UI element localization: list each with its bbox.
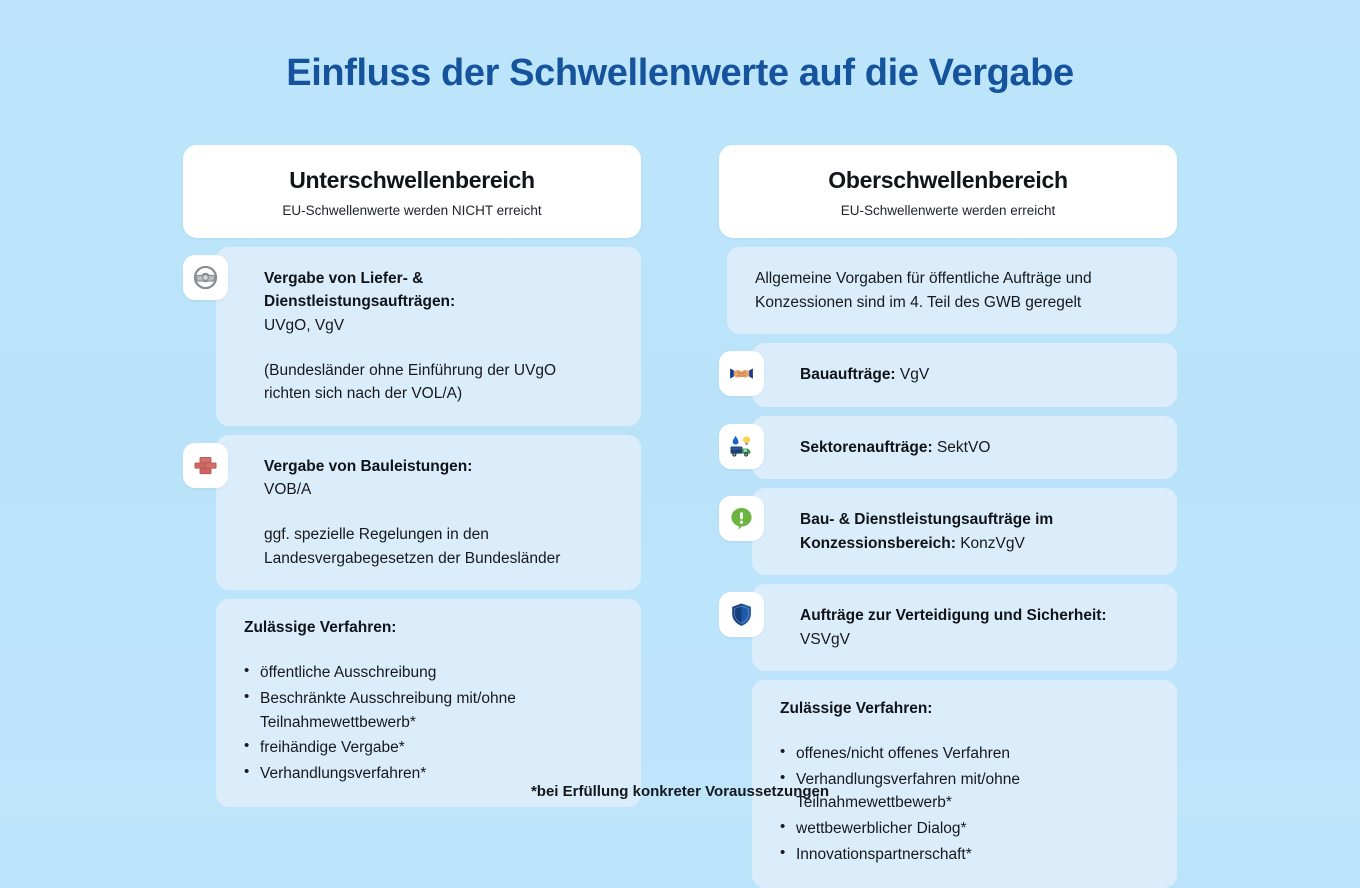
content-block-lieferauftraege: Vergabe von Liefer- & Dienstleistungsauf…: [183, 247, 641, 426]
row-text-line-2: Konzessionsbereich: KonzVgV: [800, 532, 1155, 556]
list-item: Beschränkte Ausschreibung mit/ohne Teiln…: [244, 687, 617, 734]
columns-container: Unterschwellenbereich EU-Schwellenwerte …: [0, 145, 1360, 888]
list-item: freihändige Vergabe*: [244, 736, 617, 760]
verfahren-heading: Zulässige Verfahren:: [244, 619, 617, 637]
bricks-icon: [183, 443, 228, 488]
verfahren-list: offenes/nicht offenes Verfahren Verhandl…: [780, 742, 1153, 866]
content-block-bauleistungen: Vergabe von Bauleistungen: VOB/A ggf. sp…: [183, 435, 641, 591]
row-text-line-1: Bau- & Dienstleistungsaufträge im: [800, 508, 1155, 532]
note-line-1: ggf. spezielle Regelungen in den: [264, 523, 619, 547]
header-title: Oberschwellenbereich: [737, 167, 1159, 194]
utility-truck-icon: [719, 424, 764, 469]
intro-line-1: Allgemeine Vorgaben für öffentliche Auft…: [755, 267, 1153, 291]
shield-icon: [719, 592, 764, 637]
footnote: *bei Erfüllung konkreter Voraussetzungen: [0, 783, 1360, 800]
list-item: offenes/nicht offenes Verfahren: [780, 742, 1153, 766]
card-body: Bau- & Dienstleistungsaufträge im Konzes…: [752, 488, 1177, 575]
header-subtitle: EU-Schwellenwerte werden NICHT erreicht: [201, 203, 623, 218]
row-label: Bauaufträge:: [800, 366, 896, 383]
spacer: [264, 501, 619, 523]
list-item: öffentliche Ausschreibung: [244, 661, 617, 685]
value-line: UVgO, VgV: [264, 314, 619, 337]
handshake-icon: [719, 351, 764, 396]
lead-line-2: Dienstleistungsaufträgen:: [264, 290, 619, 313]
column-oberschwellenbereich: Oberschwellenbereich EU-Schwellenwerte w…: [719, 145, 1177, 888]
header-card-unterschwellenbereich: Unterschwellenbereich EU-Schwellenwerte …: [183, 145, 641, 238]
steering-wheel-icon: [183, 255, 228, 300]
note-line-2: Landesvergabegesetzen der Bundesländer: [264, 547, 619, 571]
spacer: [264, 337, 619, 359]
note-line-2: richten sich nach der VOL/A): [264, 382, 619, 406]
verfahren-heading: Zulässige Verfahren:: [780, 700, 1153, 718]
card-body: Allgemeine Vorgaben für öffentliche Auft…: [727, 247, 1177, 334]
list-item: Innovationspartnerschaft*: [780, 843, 1153, 867]
lead-line-1: Vergabe von Bauleistungen:: [264, 455, 619, 478]
content-row-bauauftraege: Bauaufträge: VgV: [719, 343, 1177, 407]
card-body: Vergabe von Liefer- & Dienstleistungsauf…: [216, 247, 641, 426]
content-row-sektorenauftraege: Sektorenaufträge: SektVO: [719, 416, 1177, 480]
list-item: Verhandlungsverfahren*: [244, 762, 617, 786]
intro-line-2: Konzessionen sind im 4. Teil des GWB ger…: [755, 291, 1153, 315]
row-value: KonzVgV: [960, 535, 1025, 552]
green-exclamation-bubble-icon: [719, 496, 764, 541]
card-body: Sektorenaufträge: SektVO: [752, 416, 1177, 480]
header-title: Unterschwellenbereich: [201, 167, 623, 194]
row-label: Sektorenaufträge:: [800, 439, 933, 456]
row-value: VgV: [900, 366, 929, 383]
list-item: wettbewerblicher Dialog*: [780, 817, 1153, 841]
row-text: Sektorenaufträge: SektVO: [800, 436, 1155, 460]
content-row-verteidigung: Aufträge zur Verteidigung und Sicherheit…: [719, 584, 1177, 671]
card-body: Bauaufträge: VgV: [752, 343, 1177, 407]
content-block-intro-gwb: Allgemeine Vorgaben für öffentliche Auft…: [719, 247, 1177, 334]
infographic-page: Einfluss der Schwellenwerte auf die Verg…: [0, 0, 1360, 822]
content-row-konzessionen: Bau- & Dienstleistungsaufträge im Konzes…: [719, 488, 1177, 575]
header-subtitle: EU-Schwellenwerte werden erreicht: [737, 203, 1159, 218]
row-label: Aufträge zur Verteidigung und Sicherheit…: [800, 607, 1107, 624]
note-line-1: (Bundesländer ohne Einführung der UVgO: [264, 359, 619, 383]
row-value-line: VSVgV: [800, 628, 1155, 652]
row-text: Aufträge zur Verteidigung und Sicherheit…: [800, 604, 1155, 628]
value-line: VOB/A: [264, 478, 619, 501]
row-text: Bauaufträge: VgV: [800, 363, 1155, 387]
card-body: Zulässige Verfahren: öffentliche Ausschr…: [216, 599, 641, 807]
card-body: Vergabe von Bauleistungen: VOB/A ggf. sp…: [216, 435, 641, 591]
card-body: Aufträge zur Verteidigung und Sicherheit…: [752, 584, 1177, 671]
row-value: SektVO: [937, 439, 990, 456]
column-unterschwellenbereich: Unterschwellenbereich EU-Schwellenwerte …: [183, 145, 641, 888]
row-label-line-2: Konzessionsbereich:: [800, 535, 956, 552]
row-label-line-1: Bau- & Dienstleistungsaufträge im: [800, 511, 1053, 528]
lead-line-1: Vergabe von Liefer- &: [264, 267, 619, 290]
content-block-verfahren-unterschwelle: Zulässige Verfahren: öffentliche Ausschr…: [183, 599, 641, 807]
verfahren-list: öffentliche Ausschreibung Beschränkte Au…: [244, 661, 617, 785]
header-card-oberschwellenbereich: Oberschwellenbereich EU-Schwellenwerte w…: [719, 145, 1177, 238]
page-title: Einfluss der Schwellenwerte auf die Verg…: [0, 52, 1360, 95]
